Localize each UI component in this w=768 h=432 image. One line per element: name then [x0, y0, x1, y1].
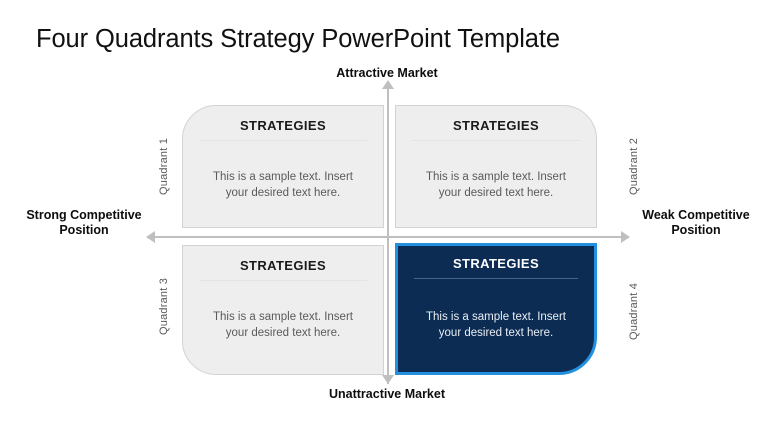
axis-label-left: Strong Competitive Position [22, 208, 146, 238]
arrow-right-icon [621, 231, 630, 243]
quadrant-box-3[interactable]: STRATEGIES This is a sample text. Insert… [182, 245, 384, 375]
quadrant-box-2[interactable]: STRATEGIES This is a sample text. Insert… [395, 105, 597, 228]
quadrant-heading-3: STRATEGIES [183, 258, 383, 273]
axis-label-bottom: Unattractive Market [287, 387, 487, 402]
quadrant-heading-2: STRATEGIES [396, 118, 596, 133]
arrow-left-icon [146, 231, 155, 243]
quadrant-divider-1 [199, 140, 367, 141]
quadrant-heading-4: STRATEGIES [398, 256, 594, 271]
quadrant-divider-3 [199, 280, 367, 281]
quadrant-box-4[interactable]: STRATEGIES This is a sample text. Insert… [395, 243, 597, 375]
quadrant-box-1[interactable]: STRATEGIES This is a sample text. Insert… [182, 105, 384, 228]
quadrant-body-1: This is a sample text. Insert your desir… [183, 169, 383, 201]
quadrant-body-2: This is a sample text. Insert your desir… [396, 169, 596, 201]
axis-label-right: Weak Competitive Position [634, 208, 758, 238]
horizontal-axis-line [152, 236, 625, 238]
quadrant-body-4: This is a sample text. Insert your desir… [398, 309, 594, 341]
page-title: Four Quadrants Strategy PowerPoint Templ… [36, 25, 560, 54]
slide-canvas: Four Quadrants Strategy PowerPoint Templ… [0, 0, 768, 432]
quadrant-body-3: This is a sample text. Insert your desir… [183, 309, 383, 341]
vertical-axis-line [387, 86, 389, 384]
quadrant-caption-2: Quadrant 2 [628, 138, 640, 195]
arrow-up-icon [382, 80, 394, 89]
quadrant-caption-1: Quadrant 1 [158, 138, 170, 195]
axis-label-top: Attractive Market [287, 66, 487, 81]
arrow-down-icon [382, 375, 394, 384]
quadrant-caption-4: Quadrant 4 [628, 283, 640, 340]
quadrant-divider-4 [414, 278, 579, 279]
quadrant-divider-2 [412, 140, 580, 141]
quadrant-caption-3: Quadrant 3 [158, 278, 170, 335]
quadrant-heading-1: STRATEGIES [183, 118, 383, 133]
